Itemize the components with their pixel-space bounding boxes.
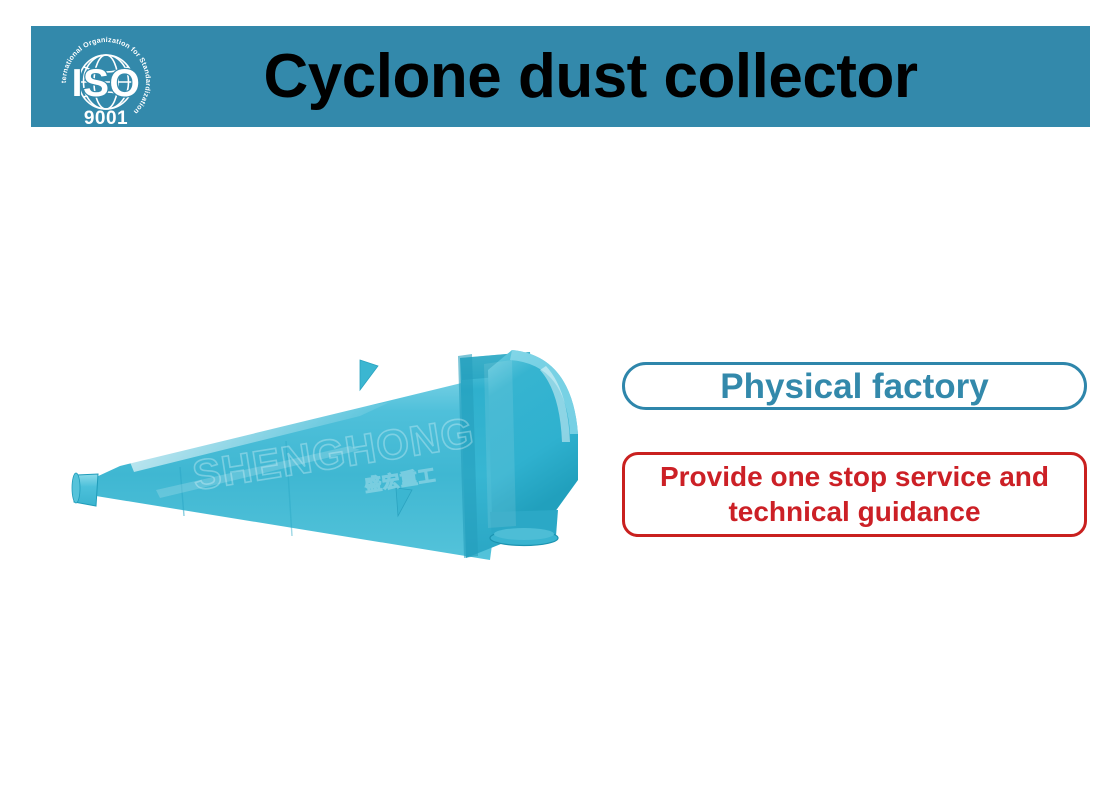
callout-physical-factory[interactable]: Physical factory [622,362,1087,410]
header-bar: International Organization for Standardi… [31,26,1090,127]
page-title: Cyclone dust collector [31,26,1090,127]
callout-physical-factory-label: Physical factory [720,369,988,404]
callout-one-stop-service-label: Provide one stop service and technical g… [650,460,1059,528]
callout-one-stop-service-line-1: Provide one stop service and [660,461,1049,492]
cyclone-dust-collector-photo: SHENGHONG 盛宏重工 [60,330,590,570]
callout-one-stop-service-line-2: technical guidance [728,496,980,527]
callout-one-stop-service[interactable]: Provide one stop service and technical g… [622,452,1087,537]
